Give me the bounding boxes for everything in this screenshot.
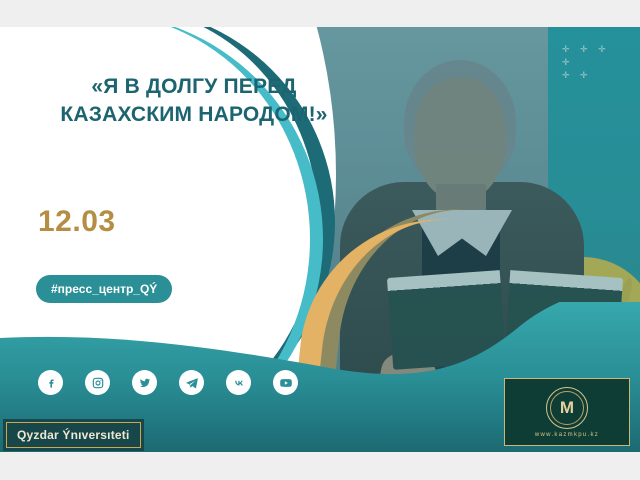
university-emblem-icon: M: [546, 387, 588, 429]
letterbox-bottom: [0, 452, 640, 480]
hashtag-badge[interactable]: #пресс_центр_QÝ: [36, 275, 172, 303]
youtube-icon[interactable]: [273, 370, 298, 395]
vk-icon[interactable]: [226, 370, 251, 395]
instagram-icon[interactable]: [85, 370, 110, 395]
letterbox-top: [0, 0, 640, 27]
screenshot-stage: ✛ ✛ ✛ ✛✛ ✛: [0, 0, 640, 480]
twitter-icon[interactable]: [132, 370, 157, 395]
telegram-icon[interactable]: [179, 370, 204, 395]
emblem-monogram: M: [560, 399, 574, 416]
logo-website-url: www.kazmkpu.kz: [535, 432, 599, 438]
university-nameplate: Qyzdar Ýnıversıteti: [6, 422, 141, 448]
university-logo: M www.kazmkpu.kz: [504, 378, 630, 446]
poster-artboard: ✛ ✛ ✛ ✛✛ ✛: [0, 27, 640, 452]
social-links: [38, 370, 298, 395]
event-date: 12.03: [38, 205, 116, 239]
page-title: «Я В ДОЛГУ ПЕРЕД КАЗАХСКИМ НАРОДОМ!»: [34, 73, 354, 128]
facebook-icon[interactable]: [38, 370, 63, 395]
